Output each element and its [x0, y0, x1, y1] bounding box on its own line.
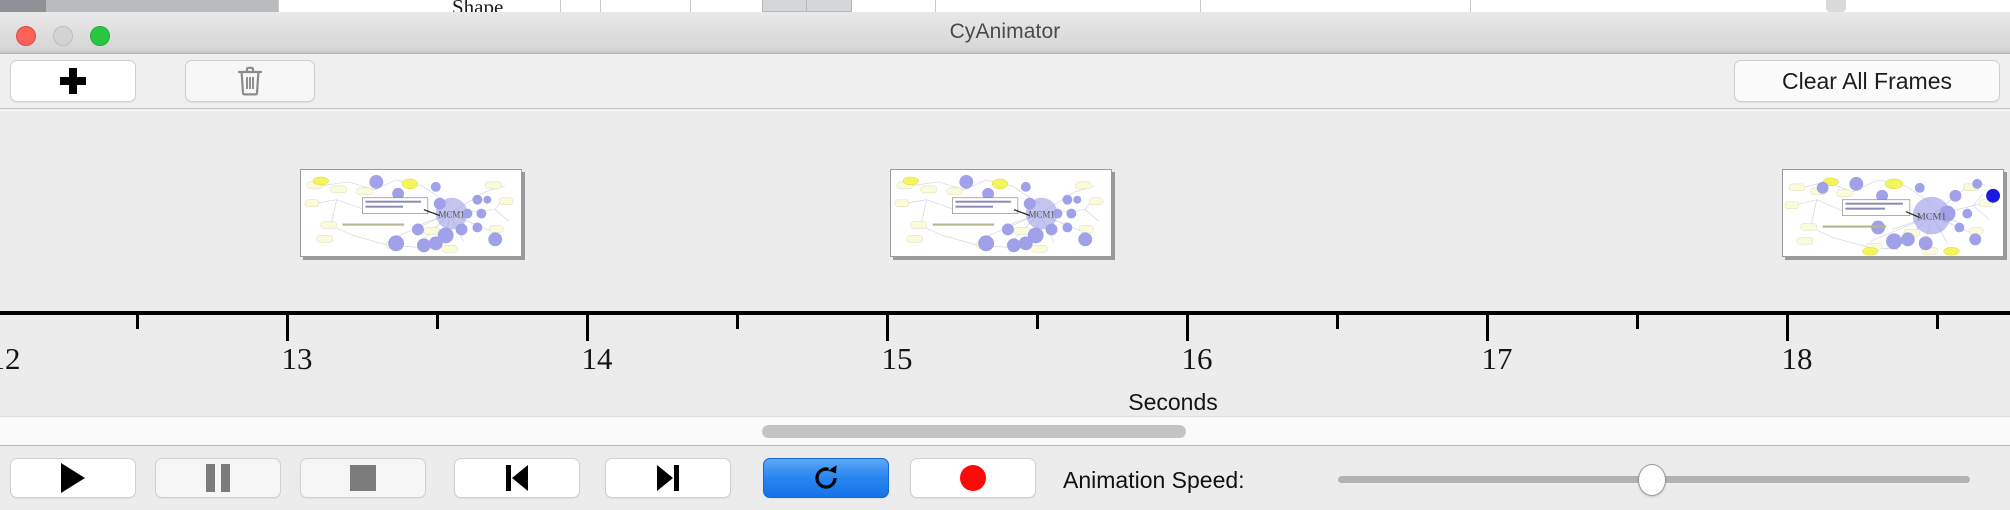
axis-tick-minor [136, 315, 139, 329]
skip-to-end-button[interactable] [605, 458, 731, 498]
clear-all-frames-button[interactable]: Clear All Frames [1734, 60, 2000, 102]
loop-button[interactable] [763, 458, 889, 498]
background-divider [600, 0, 601, 12]
background-button [806, 0, 852, 12]
background-divider [1200, 0, 1201, 12]
title-bar: CyAnimator [0, 12, 2010, 54]
axis-tick-label: 16 [1182, 341, 1213, 377]
skip-to-start-icon [504, 465, 530, 491]
svg-text:MCM1: MCM1 [1029, 210, 1055, 220]
axis-tick-major [886, 315, 889, 341]
svg-text:MCM1: MCM1 [1917, 212, 1946, 223]
axis-tick-minor [1336, 315, 1339, 329]
timeline-frame[interactable]: MCM1 [890, 169, 1112, 257]
timeline-panel[interactable]: MCM1 [0, 110, 2010, 417]
trash-icon [237, 66, 263, 96]
axis-tick-major [586, 315, 589, 341]
axis-tick-minor [1036, 315, 1039, 329]
background-window-strip [0, 0, 2010, 12]
background-divider [690, 0, 691, 12]
network-thumbnail: MCM1 [301, 170, 521, 257]
background-divider [935, 0, 936, 12]
axis-tick-label: 12 [0, 341, 21, 377]
timeline-scrollbar[interactable] [0, 416, 2010, 446]
background-divider [560, 0, 561, 12]
svg-text:MCM1: MCM1 [439, 210, 465, 220]
delete-frame-button[interactable] [185, 60, 315, 102]
stop-icon [350, 465, 376, 491]
axis-title: Seconds [0, 389, 2010, 416]
play-button[interactable] [10, 458, 136, 498]
skip-to-end-icon [655, 465, 681, 491]
animation-speed-label: Animation Speed: [1063, 467, 1245, 494]
record-icon [960, 465, 986, 491]
scrollbar-thumb[interactable] [762, 425, 1186, 438]
axis-tick-label: 15 [882, 341, 913, 377]
axis-tick-minor [736, 315, 739, 329]
axis-tick-minor [1936, 315, 1939, 329]
timeline-axis [0, 311, 2010, 315]
loop-icon [811, 463, 841, 493]
record-button[interactable] [910, 458, 1036, 498]
cyanimator-window: Shape CyAnimator Clear All Frames [0, 0, 2010, 510]
plus-icon [60, 68, 86, 94]
pause-button[interactable] [155, 458, 281, 498]
axis-tick-label: 13 [282, 341, 313, 377]
play-icon [61, 463, 85, 493]
timeline-frame[interactable]: MCM1 [300, 169, 522, 257]
add-frame-button[interactable] [10, 60, 136, 102]
network-thumbnail: MCM1 [891, 170, 1111, 257]
axis-tick-major [286, 315, 289, 341]
axis-tick-label: 14 [582, 341, 613, 377]
animation-speed-slider-thumb[interactable] [1638, 464, 1666, 496]
axis-tick-label: 18 [1782, 341, 1813, 377]
axis-tick-major [1786, 315, 1789, 341]
axis-tick-label: 17 [1482, 341, 1513, 377]
toolbar: Clear All Frames [0, 54, 2010, 109]
axis-tick-minor [1636, 315, 1639, 329]
axis-tick-major [1486, 315, 1489, 341]
background-divider [278, 0, 279, 12]
background-divider [1470, 0, 1471, 12]
background-tab-active [0, 0, 46, 12]
pause-icon [206, 464, 230, 492]
skip-to-start-button[interactable] [454, 458, 580, 498]
axis-tick-major [1186, 315, 1189, 341]
network-thumbnail: MCM1 [1783, 170, 2003, 257]
clear-all-frames-label: Clear All Frames [1782, 68, 1952, 95]
window-title: CyAnimator [0, 20, 2010, 44]
stop-button[interactable] [300, 458, 426, 498]
axis-tick-minor [436, 315, 439, 329]
background-scroll-corner [1826, 0, 1846, 12]
timeline-frame[interactable]: MCM1 [1782, 169, 2004, 257]
axis-title-label: Seconds [1128, 389, 1218, 415]
background-button [762, 0, 808, 12]
